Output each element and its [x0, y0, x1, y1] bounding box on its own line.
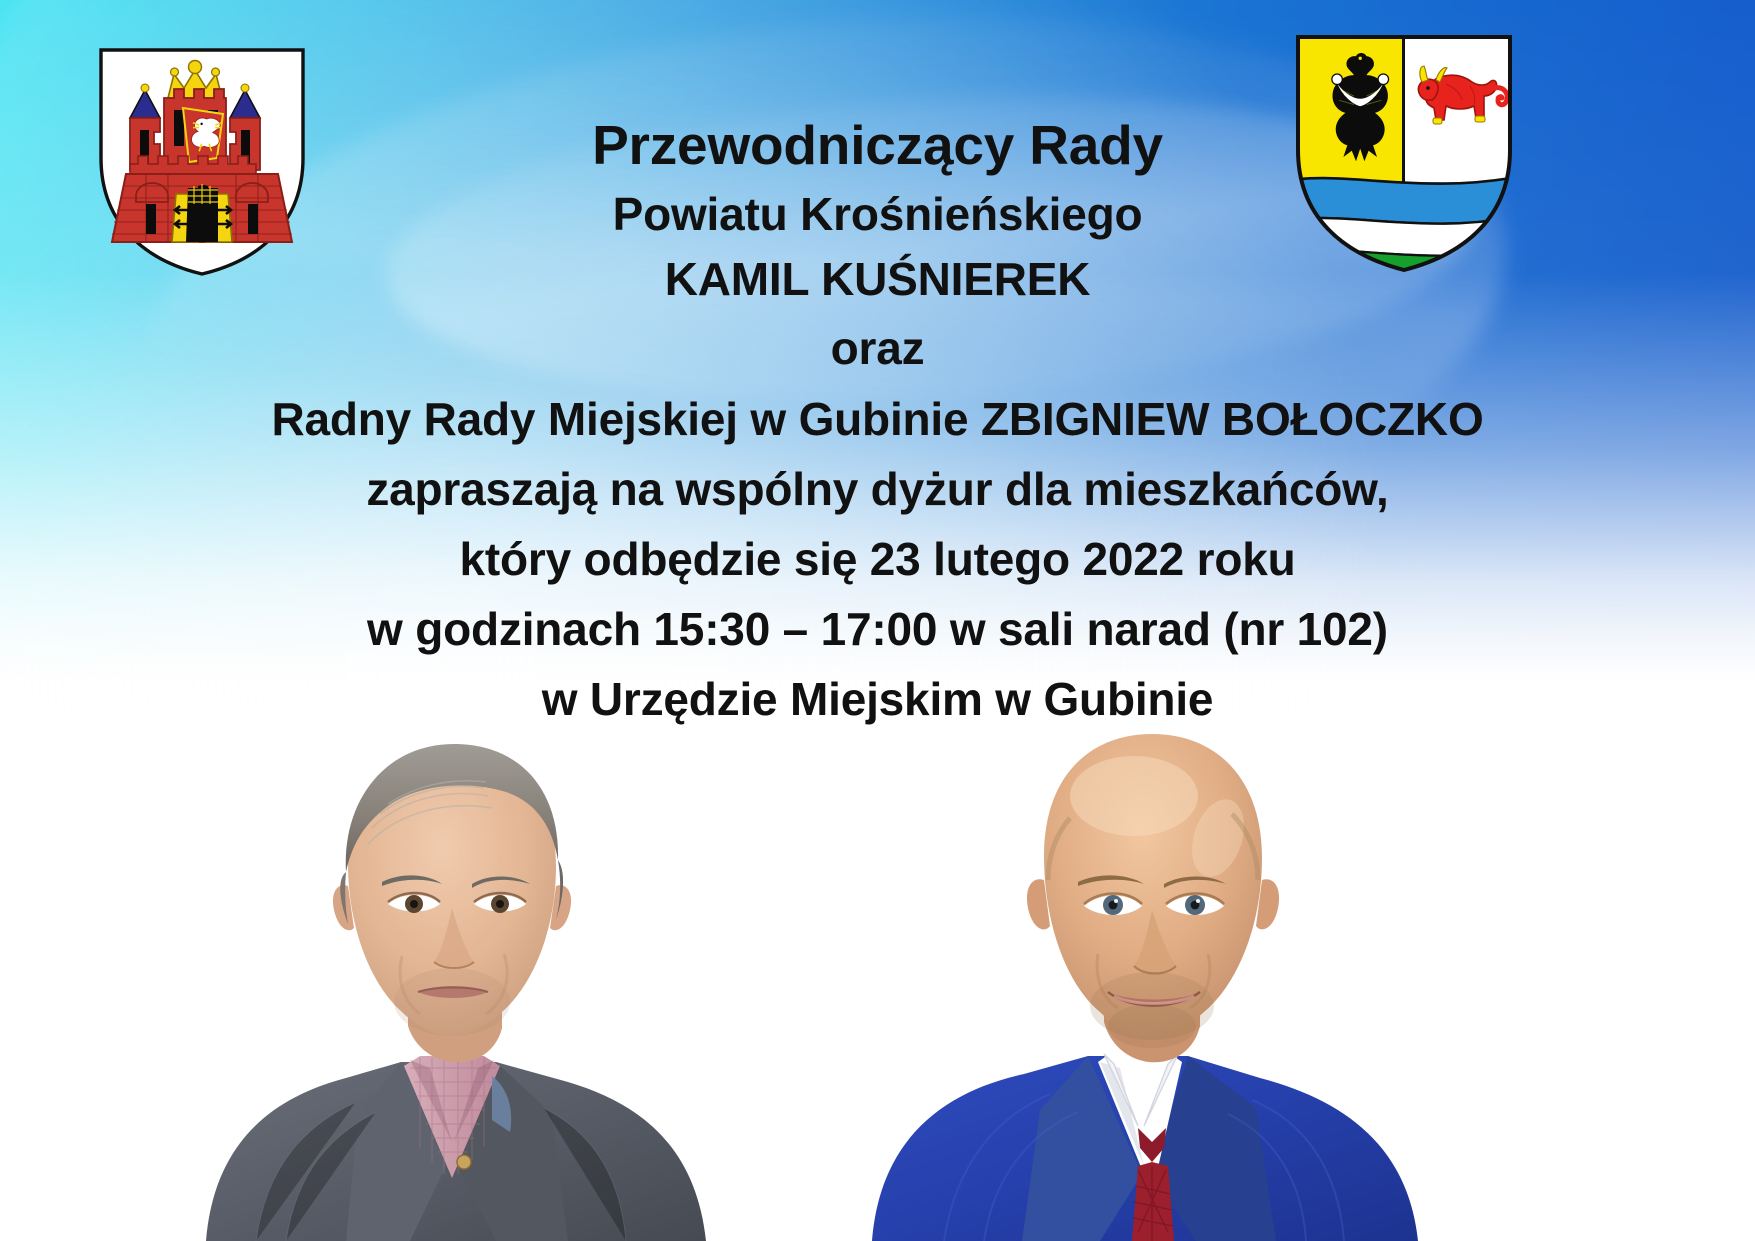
poster-line-3-name: KAMIL KUŚNIEREK — [0, 246, 1755, 312]
poster-line-5-name: Radny Rady Miejskiej w Gubinie ZBIGNIEW … — [0, 384, 1755, 454]
poster-line-2: Powiatu Krośnieńskiego — [0, 182, 1755, 246]
announcement-text-block: Przewodniczący Rady Powiatu Krośnieńskie… — [0, 108, 1755, 734]
poster-line-4-conjunction: oraz — [0, 312, 1755, 384]
poster-line-7-date: który odbędzie się 23 lutego 2022 roku — [0, 524, 1755, 594]
poster-title-line-1: Przewodniczący Rady — [0, 108, 1755, 182]
poster-canvas: Przewodniczący Rady Powiatu Krośnieńskie… — [0, 0, 1755, 1241]
poster-line-8-time-room: w godzinach 15:30 – 17:00 w sali narad (… — [0, 594, 1755, 664]
portrait-photo-kamil-kusnierek — [852, 696, 1452, 1241]
poster-line-6-invitation: zapraszają na wspólny dyżur dla mieszkań… — [0, 454, 1755, 524]
portrait-photo-zbigniew-boloczko — [196, 696, 716, 1241]
